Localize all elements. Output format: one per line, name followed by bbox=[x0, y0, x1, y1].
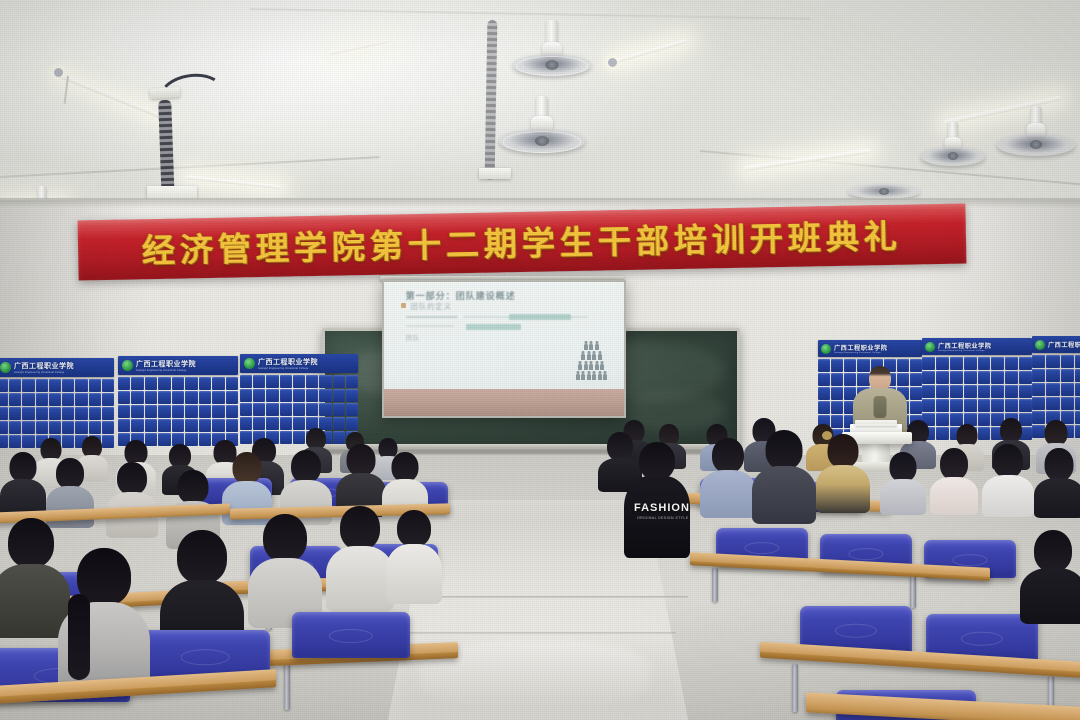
student bbox=[982, 444, 1034, 512]
college-logo-icon bbox=[122, 360, 133, 371]
presenter-collar bbox=[874, 396, 887, 418]
student bbox=[700, 438, 756, 512]
college-logo-icon bbox=[244, 358, 255, 369]
college-name-cn: 广西工程职业学院 bbox=[834, 343, 888, 352]
student bbox=[58, 548, 150, 688]
panel-header: 广西工程职业学院 Guangxi Engineering Vocational … bbox=[922, 338, 1032, 355]
college-name-en: Guangxi Engineering Vocational College bbox=[834, 352, 888, 354]
team-pyramid-graphic bbox=[576, 341, 608, 380]
jacket-brand-text: FASHION bbox=[634, 502, 690, 514]
student bbox=[248, 514, 322, 622]
step-edge bbox=[408, 632, 676, 635]
podium-papers bbox=[855, 420, 897, 426]
college-logo-icon bbox=[1035, 340, 1045, 350]
slide-surface: 第一部分：团队建设概述 团队的定义 团队 bbox=[384, 282, 624, 416]
college-logo-icon bbox=[925, 342, 935, 352]
student bbox=[930, 448, 978, 510]
student bbox=[106, 462, 158, 534]
student bbox=[336, 444, 386, 514]
college-logo-icon bbox=[0, 362, 11, 373]
classroom-photo: 经济管理学院第十二期学生干部培训开班典礼 第一部分：团队建设概述 团队的定义 团… bbox=[0, 0, 1080, 720]
ceiling-light-cap bbox=[54, 68, 63, 77]
college-name-en: Guangxi Engineering Vocational College bbox=[14, 371, 74, 374]
college-name-cn: 广西工程职业学院 bbox=[14, 361, 74, 371]
college-name-cn: 广西工程职业学院 bbox=[258, 357, 318, 367]
slide-title: 第一部分：团队建设概述 bbox=[406, 289, 516, 302]
panel-cell-grid bbox=[118, 377, 238, 446]
ceiling-fan bbox=[996, 106, 1076, 168]
slide-subtext: 团队 bbox=[406, 332, 420, 342]
college-name-cn: 广西工程职业学院 bbox=[136, 359, 196, 369]
college-logo-icon bbox=[821, 344, 831, 354]
college-name-en: Guangxi Engineering Vocational College bbox=[258, 367, 318, 370]
student bbox=[880, 452, 926, 510]
ceiling-light-cap bbox=[608, 58, 617, 67]
jacket-sub-text: ORIGINAL DESIGN STYLE bbox=[637, 516, 688, 520]
ceiling-fan bbox=[498, 96, 586, 172]
college-name-cn: 广西工程职业学院 bbox=[1048, 340, 1080, 349]
college-name-en: Guangxi Engineering Vocational College bbox=[938, 350, 992, 352]
ceiling-fan bbox=[920, 122, 986, 176]
projection-screen: 第一部分：团队建设概述 团队的定义 团队 bbox=[382, 280, 626, 418]
slide-floor-band bbox=[384, 389, 624, 416]
student bbox=[1034, 448, 1080, 514]
ceiling-fan bbox=[512, 20, 592, 92]
student bbox=[326, 506, 394, 606]
student bbox=[386, 510, 442, 602]
slide-bullet-marker bbox=[401, 303, 406, 308]
panel-header: 广西工程职业学院 Guangxi Engineering Vocational … bbox=[240, 354, 358, 373]
panel-header: 广西工程职业学院 Guangxi Engineering Vocational … bbox=[818, 340, 922, 357]
panel-header: 广西工程职业学院 bbox=[1032, 336, 1080, 353]
student bbox=[816, 434, 870, 508]
college-name-en: Guangxi Engineering Vocational College bbox=[136, 369, 196, 372]
ceiling-mount-plate bbox=[150, 87, 181, 99]
panel-header: 广西工程职业学院 Guangxi Engineering Vocational … bbox=[118, 356, 238, 375]
panel-header: 广西工程职业学院 Guangxi Engineering Vocational … bbox=[0, 358, 114, 377]
student-fashion-jacket: FASHION ORIGINAL DESIGN STYLE bbox=[624, 442, 690, 552]
student bbox=[752, 430, 816, 518]
slide-bullet-text: 团队的定义 bbox=[410, 301, 452, 312]
student bbox=[0, 452, 46, 514]
seat bbox=[292, 612, 410, 658]
banner-title: 经济管理学院第十二期学生干部培训开班典礼 bbox=[142, 210, 903, 273]
college-name-cn: 广西工程职业学院 bbox=[938, 341, 992, 350]
student-hair bbox=[68, 594, 90, 680]
student bbox=[1020, 530, 1080, 620]
